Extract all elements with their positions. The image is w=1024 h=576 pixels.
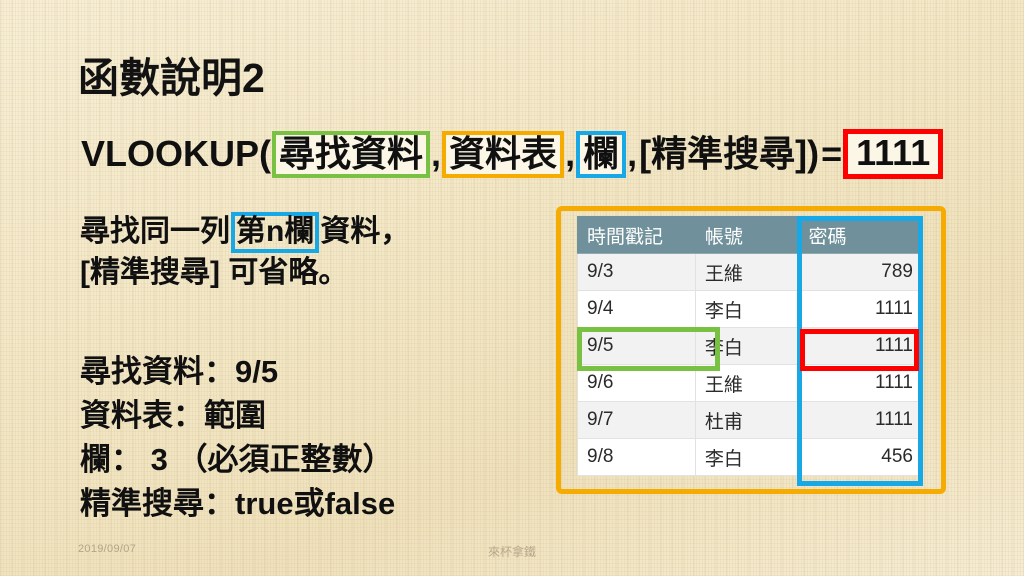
vlookup-formula: VLOOKUP(尋找資料 , 資料表 , 欄 , [精準搜尋]) = 1111 — [80, 129, 943, 179]
description-line-1: 尋找同一列第n欄資料， — [80, 212, 410, 253]
table-header: 時間戳記 帳號 密碼 — [578, 217, 923, 254]
column-header-account: 帳號 — [695, 217, 799, 254]
cell-timestamp: 9/7 — [578, 402, 696, 439]
cell-password: 789 — [799, 254, 923, 291]
table-row: 9/5 李白 1111 — [578, 328, 923, 365]
parameter-item-lookup-value: 尋找資料：9/5 — [80, 350, 395, 394]
description-boxed-nth-column: 第n欄 — [231, 212, 319, 253]
slide-canvas: 函數說明2 VLOOKUP(尋找資料 , 資料表 , 欄 , [精準搜尋]) =… — [0, 0, 1024, 576]
description-line-2: [精準搜尋] 可省略。 — [80, 253, 410, 293]
parameter-list: 尋找資料：9/5 資料表：範圍 欄： 3 （必須正整數） 精準搜尋：true或f… — [80, 350, 395, 526]
page-title: 函數說明2 — [78, 56, 265, 101]
parameter-item-col-index: 欄： 3 （必須正整數） — [80, 438, 395, 482]
column-header-timestamp: 時間戳記 — [578, 217, 696, 254]
formula-arg-lookup-value: 尋找資料 — [272, 131, 430, 178]
formula-separator-3: , — [626, 136, 638, 172]
formula-equals-sign: = — [820, 136, 843, 172]
cell-account: 王維 — [695, 254, 799, 291]
parameter-item-table-array: 資料表：範圍 — [80, 394, 395, 438]
data-table: 時間戳記 帳號 密碼 9/3 王維 789 9/4 李白 1111 9/5 李白… — [577, 216, 923, 476]
cell-account: 李白 — [695, 291, 799, 328]
cell-timestamp: 9/8 — [578, 439, 696, 476]
cell-account: 杜甫 — [695, 402, 799, 439]
table-row: 9/6 王維 1111 — [578, 365, 923, 402]
cell-timestamp: 9/5 — [578, 328, 696, 365]
formula-result-value: 1111 — [843, 129, 943, 179]
table-row: 9/8 李白 456 — [578, 439, 923, 476]
description-line2-text: [精準搜尋] 可省略。 — [80, 253, 348, 293]
description-line1-prefix: 尋找同一列 — [80, 212, 230, 252]
formula-function-name: VLOOKUP( — [80, 136, 272, 172]
parameter-item-range-lookup: 精準搜尋：true或false — [80, 482, 395, 526]
description-line1-suffix: 資料， — [320, 212, 410, 252]
description-block: 尋找同一列第n欄資料， [精準搜尋] 可省略。 — [80, 212, 410, 292]
table-row: 9/7 杜甫 1111 — [578, 402, 923, 439]
cell-password: 1111 — [799, 365, 923, 402]
cell-password: 1111 — [799, 328, 923, 365]
cell-account: 李白 — [695, 328, 799, 365]
cell-account: 李白 — [695, 439, 799, 476]
formula-separator-2: , — [564, 136, 576, 172]
formula-arg-table-array: 資料表 — [442, 131, 564, 178]
table-row: 9/4 李白 1111 — [578, 291, 923, 328]
cell-timestamp: 9/3 — [578, 254, 696, 291]
formula-arg-col-index: 欄 — [576, 131, 626, 178]
cell-timestamp: 9/4 — [578, 291, 696, 328]
cell-password: 1111 — [799, 402, 923, 439]
cell-account: 王維 — [695, 365, 799, 402]
cell-password: 456 — [799, 439, 923, 476]
table-header-row: 時間戳記 帳號 密碼 — [578, 217, 923, 254]
cell-password: 1111 — [799, 291, 923, 328]
cell-timestamp: 9/6 — [578, 365, 696, 402]
footer-brand: 來杯拿鐵 — [0, 543, 1024, 560]
formula-separator-1: , — [430, 136, 442, 172]
table-row: 9/3 王維 789 — [578, 254, 923, 291]
formula-arg-range-lookup: [精準搜尋]) — [638, 136, 820, 172]
table-body: 9/3 王維 789 9/4 李白 1111 9/5 李白 1111 9/6 王… — [578, 254, 923, 476]
column-header-password: 密碼 — [799, 217, 923, 254]
